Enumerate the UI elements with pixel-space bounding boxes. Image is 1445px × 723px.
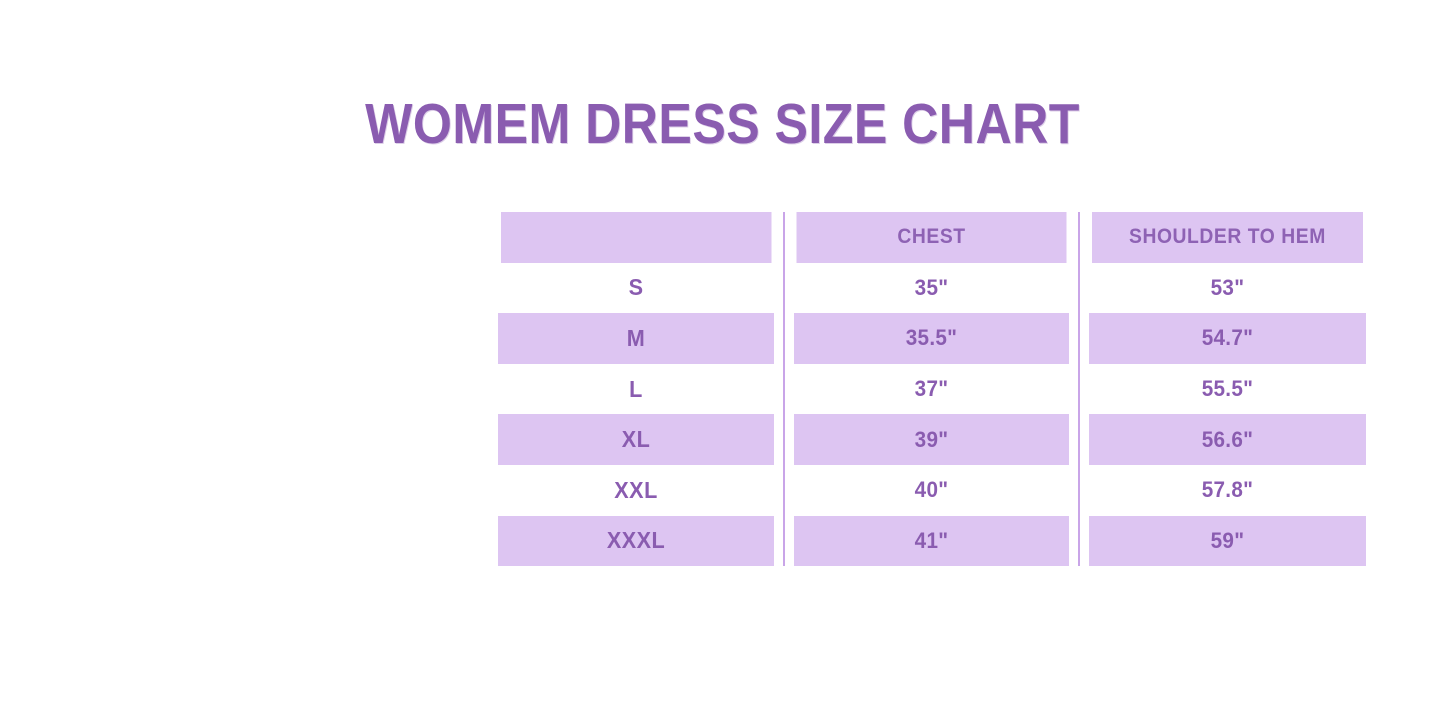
table-body: S 35" 53" M 35.5" 54.7" L 37" 55.5" XL 3… <box>489 263 1375 567</box>
cell-chest: 41" <box>793 516 1070 567</box>
cell-chest: 39" <box>793 414 1070 465</box>
cell-chest: 40" <box>793 465 1070 516</box>
cell-hem: 54.7" <box>1088 313 1366 364</box>
table-row: L 37" 55.5" <box>489 364 1375 415</box>
table-row: S 35" 53" <box>489 263 1375 314</box>
cell-size: S <box>498 263 775 314</box>
table-row: XXXL 41" 59" <box>489 516 1375 567</box>
cell-size: XL <box>498 414 775 465</box>
page-title: WOMEM DRESS SIZE CHART <box>87 92 1359 156</box>
cell-size: XXL <box>498 465 775 516</box>
column-header-chest: CHEST <box>796 212 1067 263</box>
column-header-size <box>501 212 772 263</box>
cell-hem: 56.6" <box>1088 414 1366 465</box>
cell-size: XXXL <box>498 516 775 567</box>
cell-hem: 57.8" <box>1088 465 1366 516</box>
cell-chest: 35" <box>793 263 1070 314</box>
table-row: XXL 40" 57.8" <box>489 465 1375 516</box>
size-chart-table: CHEST SHOULDER TO HEM S 35" 53" M 35.5" … <box>489 212 1375 566</box>
cell-chest: 35.5" <box>793 313 1070 364</box>
cell-chest: 37" <box>793 364 1070 415</box>
table-row: XL 39" 56.6" <box>489 414 1375 465</box>
column-header-shoulder-to-hem: SHOULDER TO HEM <box>1091 212 1363 263</box>
cell-size: M <box>498 313 775 364</box>
table-header-row: CHEST SHOULDER TO HEM <box>489 212 1375 263</box>
cell-size: L <box>498 364 775 415</box>
size-chart-page: WOMEM DRESS SIZE CHART CHEST SHOULDER TO… <box>0 0 1445 723</box>
table-header: CHEST SHOULDER TO HEM <box>489 212 1375 263</box>
cell-hem: 55.5" <box>1088 364 1366 415</box>
table-row: M 35.5" 54.7" <box>489 313 1375 364</box>
cell-hem: 59" <box>1088 516 1366 567</box>
cell-hem: 53" <box>1088 263 1366 314</box>
